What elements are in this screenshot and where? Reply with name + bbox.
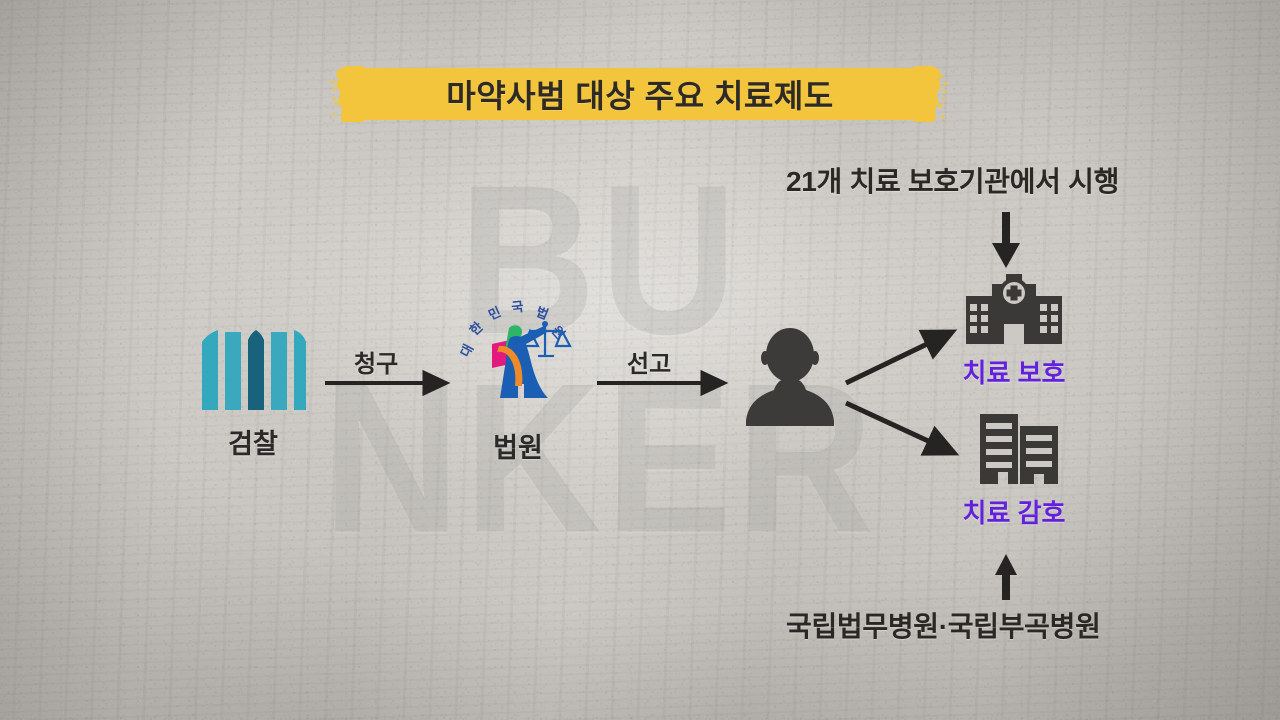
- node-label-treatment-protection: 치료 보호: [952, 353, 1076, 390]
- node-label-prosecution: 검찰: [196, 422, 310, 461]
- court-emblem-icon: 대 한 민 국 법 원: [452, 298, 584, 420]
- emblem-arc-char-4: 국: [511, 299, 525, 315]
- infographic-canvas: BU NKER 마약사범 대상 주요 치료제도: [0, 0, 1280, 720]
- node-label-court: 법원: [452, 426, 584, 465]
- hospital-icon: [962, 274, 1066, 344]
- edge-label-request: 청구: [354, 344, 398, 379]
- emblem-arc-char-3: 민: [486, 304, 503, 323]
- emblem-arc-char-5: 법: [534, 304, 551, 322]
- title-ribbon: 마약사범 대상 주요 치료제도: [352, 68, 928, 120]
- emblem-arc-char-1: 대: [457, 342, 476, 360]
- node-prosecution[interactable]: 검찰: [196, 330, 310, 461]
- node-court[interactable]: 대 한 민 국 법 원: [452, 298, 584, 465]
- page-title: 마약사범 대상 주요 치료제도: [352, 68, 928, 120]
- prosecution-pillars-icon: [200, 330, 306, 410]
- person-silhouette-icon: [740, 326, 840, 426]
- emblem-arc-char-2: 한: [467, 319, 486, 338]
- annotation-bottom-note: 국립법무병원·국립부곡병원: [786, 605, 1101, 645]
- edge-label-sentence: 선고: [627, 344, 671, 379]
- node-label-treatment-custody: 치료 감호: [952, 493, 1076, 530]
- node-treatment-custody[interactable]: 치료 감호: [952, 414, 1076, 530]
- buildings-icon: [962, 414, 1066, 484]
- node-treatment-protection[interactable]: 치료 보호: [952, 274, 1076, 390]
- node-person[interactable]: [740, 326, 840, 426]
- annotation-top-note: 21개 치료 보호기관에서 시행: [786, 160, 1119, 200]
